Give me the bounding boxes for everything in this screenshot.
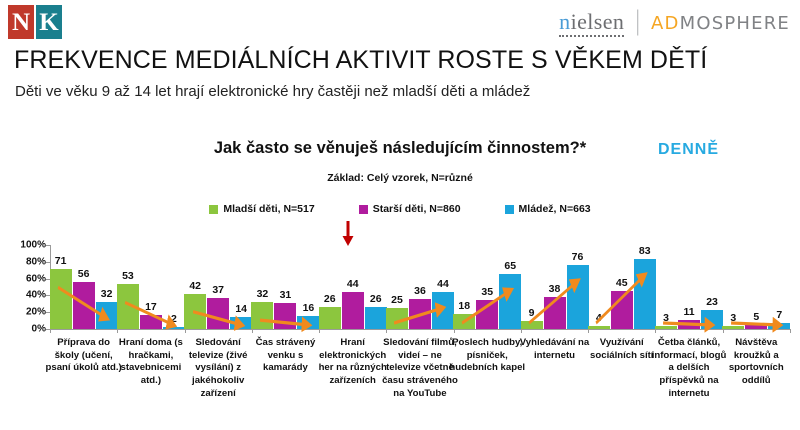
bar-column[interactable]: 16 [297,243,319,329]
logo-letter-k: K [36,5,62,39]
bar-column[interactable]: 36 [409,243,431,329]
bar-column[interactable]: 18 [453,243,475,329]
bar[interactable] [365,307,387,329]
page-title: FREKVENCE MEDIÁLNÍCH AKTIVIT ROSTE S VĚK… [14,46,707,75]
bar-value-label: 76 [572,251,584,263]
bar-value-label: 71 [55,255,67,267]
bar-value-label: 35 [481,286,493,298]
bar-column[interactable]: 44 [342,243,364,329]
bar-group: 31123Četba článků, informací, blogů a de… [655,243,722,430]
bar-value-label: 26 [324,293,336,305]
x-axis-tick-mark [117,329,118,333]
bar[interactable] [184,294,206,329]
bar-value-label: 31 [280,289,292,301]
bar-value-label: 65 [504,260,516,272]
bar[interactable] [544,297,566,329]
bar[interactable] [722,326,744,329]
bar-value-label: 56 [78,268,90,280]
bar[interactable] [611,291,633,329]
bar-value-label: 44 [347,278,359,290]
bar-value-label: 45 [616,277,628,289]
bar-column[interactable]: 4 [588,243,610,329]
legend-swatch-icon [359,205,368,214]
bar-column[interactable]: 42 [184,243,206,329]
bar-column[interactable]: 26 [365,243,387,329]
highlight-arrow-icon [341,221,355,247]
x-axis-tick-mark [386,329,387,333]
chart-plot-area: 0%20%40%60%80%100% 715632Příprava do ško… [0,243,800,430]
bar[interactable] [409,299,431,329]
bar-column[interactable]: 56 [73,243,95,329]
bar-column[interactable]: 5 [745,243,767,329]
bar-group: 53172Hraní doma (s hračkami, stavebnicem… [117,243,184,430]
bar-value-label: 16 [303,302,315,314]
bar-group-bars: 357 [723,243,790,329]
admosphere-wordmark-ad: AD [651,13,680,34]
legend-label: Mladší děti, N=517 [223,203,314,215]
nielsen-wordmark-initial: n [559,9,570,34]
page-subtitle: Děti ve věku 9 až 14 let hrají elektroni… [15,83,530,100]
legend-item[interactable]: Mladší děti, N=517 [209,203,314,215]
bar-column[interactable]: 76 [567,243,589,329]
bar-group: 423714Sledování televize (živé vysílání)… [185,243,252,430]
legend-swatch-icon [209,205,218,214]
bar[interactable] [432,292,454,329]
bar[interactable] [386,308,408,329]
bar[interactable] [140,315,162,329]
bar[interactable] [453,314,475,329]
bar-group: 44583Využívání sociálních sítí [588,243,655,430]
bar-value-label: 32 [101,288,113,300]
bar-value-label: 2 [171,313,177,325]
bar[interactable] [521,321,543,329]
frequency-badge: DENNĚ [658,141,719,159]
admosphere-wordmark-mosphere: MOSPHERE [680,13,790,34]
bar[interactable] [50,269,72,329]
bar-value-label: 9 [529,307,535,319]
bar[interactable] [342,292,364,329]
bar-column[interactable]: 2 [163,243,185,329]
bar[interactable] [230,317,252,329]
bar-group-bars: 423714 [185,243,252,329]
bar-group: 357Návštěva kroužků a sportovních oddílů [723,243,790,430]
bar-column[interactable]: 31 [274,243,296,329]
bar-column[interactable]: 3 [655,243,677,329]
bar-group-bars: 183565 [454,243,521,329]
bar[interactable] [297,316,319,329]
bar-group: 253644Sledování filmů, videí – ne televi… [386,243,453,430]
bar-column[interactable]: 3 [722,243,744,329]
logo-letter-n: N [8,5,34,39]
legend-label: Mládež, N=663 [519,203,591,215]
x-axis-tick-mark [50,329,51,333]
bar-column[interactable]: 65 [499,243,521,329]
bar-value-label: 36 [414,285,426,297]
bar[interactable] [96,302,118,329]
bar-value-label: 3 [663,312,669,324]
bar[interactable] [274,303,296,329]
bar-column[interactable]: 7 [768,243,790,329]
x-axis-tick-mark [185,329,186,333]
bar-value-label: 37 [212,284,224,296]
bar-group-bars: 53172 [117,243,184,329]
y-axis-tick-label: 80% [26,256,46,267]
bar-value-label: 17 [145,301,157,313]
bar-column[interactable]: 25 [386,243,408,329]
bar[interactable] [117,284,139,329]
nielsen-admosphere-logo: nielsen | ADMOSPHERE [559,8,790,37]
nielsen-wordmark: nielsen [559,11,624,37]
bar-column[interactable]: 23 [701,243,723,329]
x-axis-tick-mark [655,329,656,333]
bar-groups: 715632Příprava do školy (učení, psaní úk… [50,243,790,430]
bar-group-bars: 264426 [319,243,386,329]
chart-legend: Mladší děti, N=517Starší děti, N=860Mlád… [0,203,800,215]
legend-item[interactable]: Mládež, N=663 [505,203,591,215]
y-axis-tick-label: 40% [26,290,46,301]
y-axis-tick-mark [46,312,50,313]
bar-value-label: 14 [235,303,247,315]
bar[interactable] [163,327,185,329]
y-axis-tick-label: 100% [20,240,46,251]
bar-value-label: 25 [391,294,403,306]
bar-column[interactable]: 45 [611,243,633,329]
bar-group-bars: 93876 [521,243,588,329]
bar-value-label: 18 [458,300,470,312]
legend-item[interactable]: Starší děti, N=860 [359,203,461,215]
x-axis-tick-mark [588,329,589,333]
nielsen-wordmark-rest: ielsen [571,9,625,34]
bar-value-label: 23 [706,296,718,308]
y-axis-tick-label: 0% [32,324,46,335]
bar-group: 323116Čas strávený venku s kamarády [252,243,319,430]
y-axis-tick-mark [46,295,50,296]
bar-value-label: 83 [639,245,651,257]
x-axis-tick-mark [454,329,455,333]
x-axis-tick-mark [521,329,522,333]
bar-value-label: 44 [437,278,449,290]
x-axis-tick-mark [319,329,320,333]
bar[interactable] [655,326,677,329]
page-header: N K nielsen | ADMOSPHERE FREKVENCE MEDIÁ… [0,0,800,105]
y-axis-tick-label: 60% [26,273,46,284]
bar-column[interactable]: 26 [319,243,341,329]
bar-group: 183565Poslech hudby, písniček, hudebních… [454,243,521,430]
bar[interactable] [701,310,723,329]
bar-column[interactable]: 35 [476,243,498,329]
bar[interactable] [745,325,767,329]
bar[interactable] [499,274,521,329]
legend-label: Starší děti, N=860 [373,203,461,215]
bar-value-label: 32 [257,288,269,300]
bar-column[interactable]: 38 [544,243,566,329]
bar-column[interactable]: 83 [634,243,656,329]
bar[interactable] [588,326,610,329]
bar-group: 715632Příprava do školy (učení, psaní úk… [50,243,117,430]
bar-group: 93876Vyhledávání na internetu [521,243,588,430]
bar[interactable] [476,300,498,329]
x-axis-tick-mark [252,329,253,333]
bar-group-bars: 323116 [252,243,319,329]
bar-column[interactable]: 44 [432,243,454,329]
bar[interactable] [73,282,95,329]
bar[interactable] [634,259,656,329]
bar[interactable] [319,307,341,329]
bar[interactable] [251,302,273,329]
bar-column[interactable]: 14 [230,243,252,329]
y-axis-tick-mark [46,279,50,280]
bar[interactable] [768,323,790,329]
bar-column[interactable]: 17 [140,243,162,329]
bar-value-label: 53 [122,270,134,282]
bar-column[interactable]: 53 [117,243,139,329]
bar-column[interactable]: 9 [521,243,543,329]
admosphere-wordmark: ADMOSPHERE [651,15,790,33]
bar-group-bars: 44583 [588,243,655,329]
brand-divider: | [633,8,642,34]
bar-value-label: 4 [596,312,602,324]
bar-value-label: 26 [370,293,382,305]
y-axis: 0%20%40%60%80%100% [8,243,46,329]
x-axis-tick-mark [790,329,791,333]
bar-value-label: 5 [753,311,759,323]
bar-value-label: 11 [683,306,694,318]
bar-value-label: 3 [730,312,736,324]
bar-group-bars: 715632 [50,243,117,329]
y-axis-tick-label: 20% [26,307,46,318]
x-axis-tick-mark [723,329,724,333]
nk-logo: N K [8,5,62,39]
bar-column[interactable]: 11 [678,243,700,329]
bar[interactable] [567,265,589,329]
bar-column[interactable]: 71 [50,243,72,329]
x-axis-category-label: Návštěva kroužků a sportovních oddílů [717,337,796,388]
bar-column[interactable]: 37 [207,243,229,329]
y-axis-tick-mark [46,262,50,263]
chart-base-note: Základ: Celý vzorek, N=různé [0,172,800,184]
y-axis-tick-mark [46,245,50,246]
legend-swatch-icon [505,205,514,214]
bar-value-label: 38 [549,283,561,295]
bar-value-label: 7 [776,309,782,321]
bar-column[interactable]: 32 [96,243,118,329]
bar-group: 264426Hraní elektronických her na různýc… [319,243,386,430]
bar-value-label: 42 [189,280,201,292]
bar-group-bars: 253644 [386,243,453,329]
bar-group-bars: 31123 [655,243,722,329]
bar[interactable] [207,298,229,329]
bar-column[interactable]: 32 [251,243,273,329]
bar[interactable] [678,320,700,329]
